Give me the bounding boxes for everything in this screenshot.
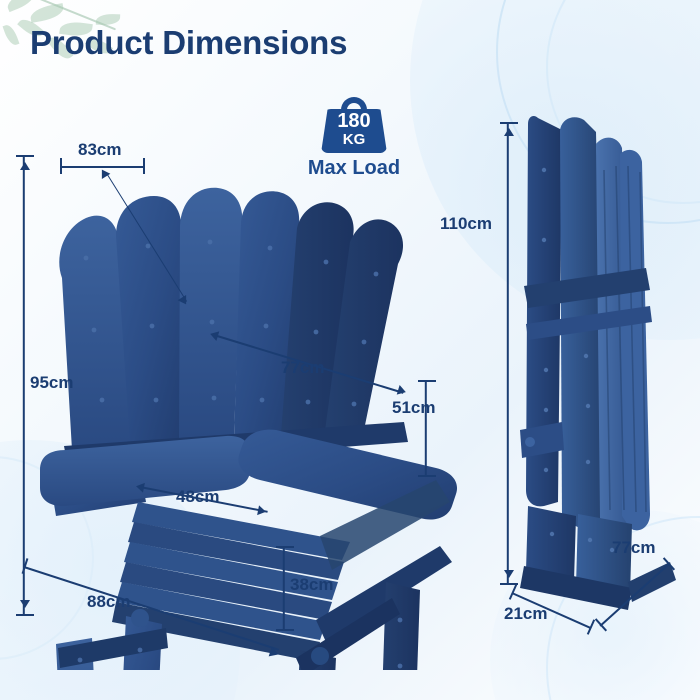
max-load-unit: KG — [321, 132, 387, 147]
page-title: Product Dimensions — [30, 24, 347, 62]
weight-icon: 180 KG — [321, 97, 387, 153]
product-dimensions-infographic: Product Dimensions 180 KG Max Load — [0, 0, 700, 700]
max-load-value: 180 — [321, 111, 387, 131]
